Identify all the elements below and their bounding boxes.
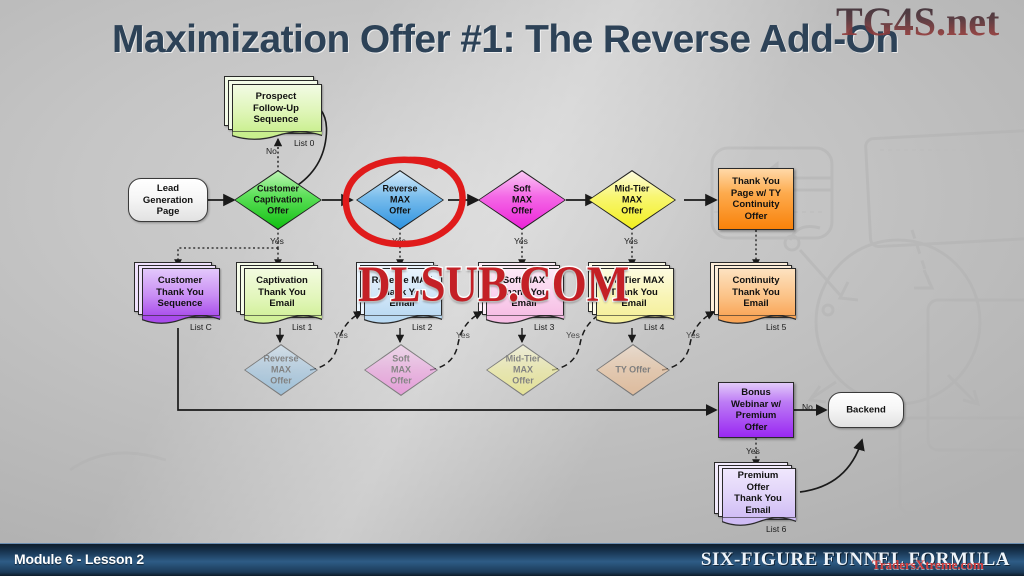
node-mid-tier-max-offer[interactable]: Mid-Tier MAX Offer [588, 170, 676, 230]
node-captivation-thank-you-email[interactable]: Captivation Thank You Email List 1 [244, 268, 320, 316]
footer-module-label: Module 6 - Lesson 2 [14, 551, 144, 567]
slide-title: Maximization Offer #1: The Reverse Add-O… [112, 18, 899, 62]
node-prospect-follow-up-sequence[interactable]: Prospect Follow-Up Sequence List 0 [232, 84, 320, 132]
edge-label-yes-soft: Yes [514, 236, 528, 246]
list-label: List 6 [766, 524, 786, 534]
node-soft-max-offer[interactable]: Soft MAX Offer [478, 170, 566, 230]
doc-sheet-front [142, 268, 220, 318]
node-backend[interactable]: Backend [828, 392, 904, 428]
list-label: List 4 [644, 322, 664, 332]
edge-label-no-backend: No [802, 402, 813, 412]
diamond-fill [365, 345, 436, 394]
edge-label-yes-captivation: Yes [270, 236, 284, 246]
doc-sheet-front [232, 84, 322, 134]
list-label: List 2 [412, 322, 432, 332]
edge-label-yes-list2: Yes [456, 330, 470, 340]
diamond-fill [479, 171, 564, 228]
list-label: List 3 [534, 322, 554, 332]
edge-label-yes-midtier: Yes [624, 236, 638, 246]
watermark-dlsub: DLSUB.COM [358, 255, 629, 313]
node-customer-thank-you-sequence[interactable]: Customer Thank You Sequence List C [142, 268, 218, 316]
list-label: List 5 [766, 322, 786, 332]
node-ghost-reverse-max-offer[interactable]: Reverse MAX Offer [244, 344, 318, 396]
node-ghost-mid-tier-max-offer[interactable]: Mid-Tier MAX Offer [486, 344, 560, 396]
doc-sheet-front [718, 268, 796, 318]
slide-canvas: Maximization Offer #1: The Reverse Add-O… [0, 0, 1024, 576]
diamond-fill [487, 345, 558, 394]
node-label: Thank You Page w/ TY Continuity Offer [719, 176, 793, 222]
node-thank-you-page[interactable]: Thank You Page w/ TY Continuity Offer [718, 168, 794, 230]
node-premium-offer-thank-you-email[interactable]: Premium Offer Thank You Email List 6 [722, 468, 794, 518]
list-label: List 0 [294, 138, 314, 148]
node-ghost-soft-max-offer[interactable]: Soft MAX Offer [364, 344, 438, 396]
footer-bar: Module 6 - Lesson 2 SIX-FIGURE FUNNEL FO… [0, 543, 1024, 576]
node-continuity-thank-you-email[interactable]: Continuity Thank You Email List 5 [718, 268, 794, 316]
node-label: Backend [829, 404, 903, 416]
node-label: Lead Generation Page [129, 183, 207, 218]
edge-label-yes-list3: Yes [566, 330, 580, 340]
watermark-tg4s: TG4S.net [836, 0, 999, 45]
red-circle-annotation [340, 152, 470, 252]
edge-label-no-prospect: No [266, 146, 277, 156]
doc-sheet-front [722, 468, 796, 520]
diamond-fill [597, 345, 668, 394]
node-lead-generation-page[interactable]: Lead Generation Page [128, 178, 208, 222]
edge-label-yes-list1: Yes [334, 330, 348, 340]
node-label: Bonus Webinar w/ Premium Offer [719, 387, 793, 433]
watermark-tradersxtreme: TradersXtreme.com [872, 557, 984, 573]
node-ghost-ty-offer[interactable]: TY Offer [596, 344, 670, 396]
edge-label-yes-list4: Yes [686, 330, 700, 340]
node-bonus-webinar[interactable]: Bonus Webinar w/ Premium Offer [718, 382, 794, 438]
node-customer-captivation-offer[interactable]: Customer Captivation Offer [234, 170, 322, 230]
diamond-fill [235, 171, 320, 228]
diamond-fill [589, 171, 674, 228]
diamond-fill [245, 345, 316, 394]
doc-sheet-front [244, 268, 322, 318]
list-label: List 1 [292, 322, 312, 332]
list-label: List C [190, 322, 212, 332]
edge-label-yes-premium: Yes [746, 446, 760, 456]
